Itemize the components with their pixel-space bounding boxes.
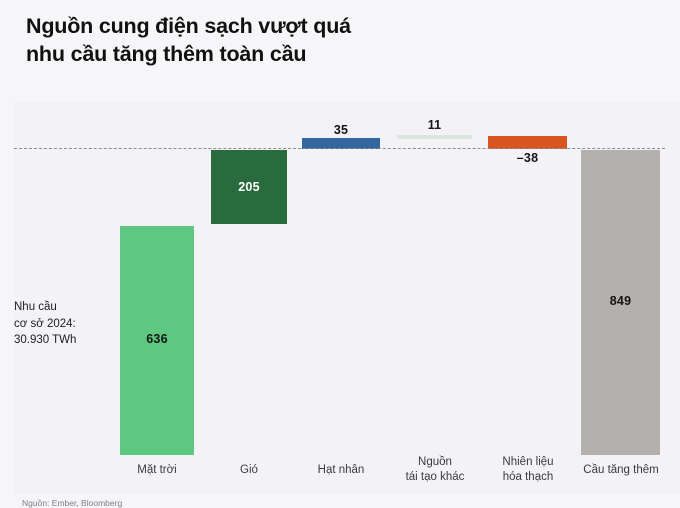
bar-value-nguon-tai-tao-khac: 11: [397, 118, 472, 132]
chart-panel: 636 205 35 11 –38 849 Mặt trời Gió Hạt n…: [14, 102, 680, 494]
bar-value-cau-tang-them: 849: [581, 294, 660, 308]
x-axis-label-mat-troi: Mặt trời: [110, 463, 204, 478]
baseline-dashed-line: [14, 148, 665, 149]
source-note: Nguồn: Ember, Bloomberg: [22, 498, 122, 508]
chart-plot-area: 636 205 35 11 –38 849 Mặt trời Gió Hạt n…: [14, 102, 680, 494]
x-axis-label-gio: Gió: [202, 463, 296, 478]
bar-value-gio: 205: [211, 180, 287, 194]
page-title: Nguồn cung điện sạch vượt quá nhu cầu tă…: [26, 12, 646, 69]
x-axis-label-nhien-lieu-hoa-thach: Nhiên liệu hóa thạch: [481, 455, 575, 485]
bar-value-nhien-lieu-hoa-thach: –38: [488, 151, 567, 165]
bar-nguon-tai-tao-khac[interactable]: [397, 135, 472, 139]
baseline-annotation: Nhu cầu cơ sở 2024: 30.930 TWh: [14, 299, 76, 349]
x-axis-label-nguon-tai-tao-khac: Nguồn tái tạo khác: [388, 455, 482, 485]
bar-value-hat-nhan: 35: [302, 123, 380, 137]
x-axis-label-hat-nhan: Hạt nhân: [294, 463, 388, 478]
bar-value-mat-troi: 636: [120, 332, 194, 346]
x-axis-label-cau-tang-them: Cầu tăng thêm: [573, 463, 669, 478]
